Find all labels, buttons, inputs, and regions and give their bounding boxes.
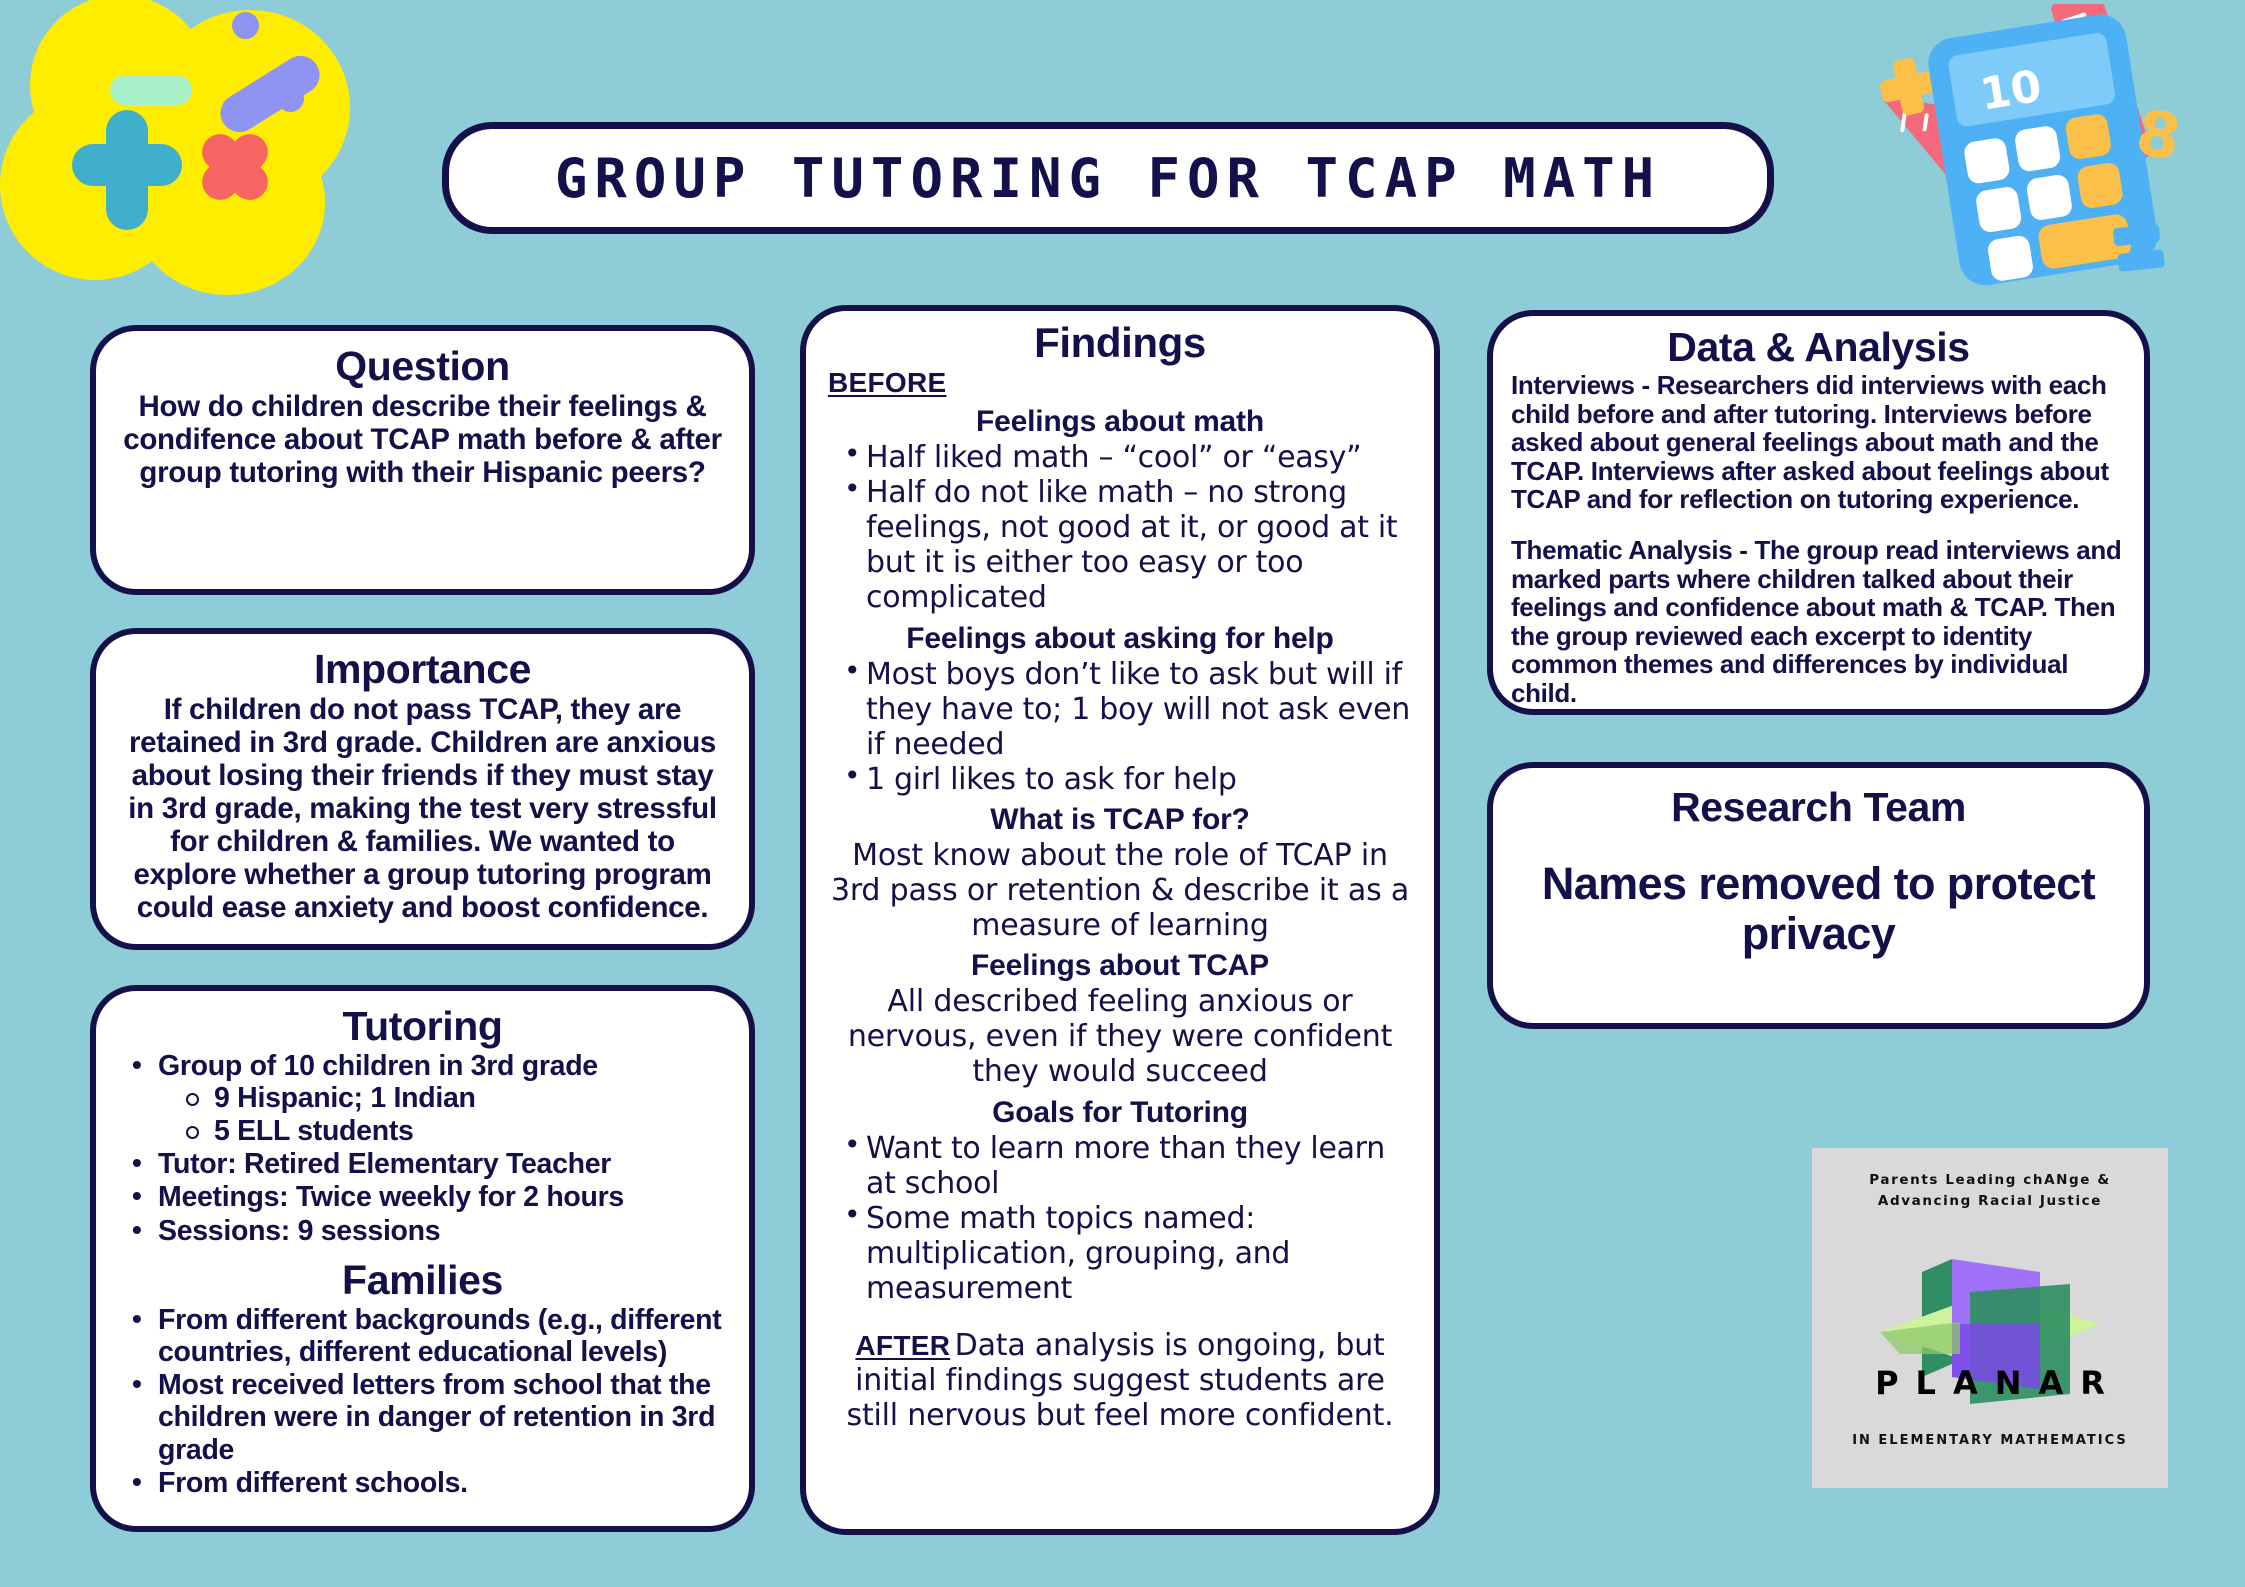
findings-bullet-item: Most boys don’t like to ask but will if … [866, 657, 1412, 762]
importance-card: Importance If children do not pass TCAP,… [90, 628, 755, 950]
tutoring-item-lead: Meetings: [158, 1181, 288, 1213]
importance-text: If children do not pass TCAP, they are r… [120, 693, 725, 924]
findings-card: Findings BEFORE Feelings about mathHalf … [800, 305, 1440, 1535]
logo-artwork: PLANAR [1840, 1214, 2140, 1429]
plus-icon [72, 110, 182, 220]
research-team-card: Research Team Names removed to protect p… [1487, 762, 2150, 1029]
findings-section-heading: Goals for Tutoring [828, 1096, 1412, 1130]
data-analysis-card: Data & Analysis Interviews - Researchers… [1487, 310, 2150, 715]
findings-paragraph: Most know about the role of TCAP in 3rd … [828, 838, 1412, 943]
families-list-item: From different schools. [154, 1467, 725, 1499]
findings-bullet-item: Half do not like math – no strong feelin… [866, 475, 1412, 615]
slash-dot-top-icon [232, 12, 259, 39]
math-symbols-blob-decoration [0, 0, 420, 290]
slash-dot-bottom-icon [277, 85, 304, 112]
logo-tagline-line1: Parents Leading chANge & [1869, 1172, 2110, 1188]
svg-text:8: 8 [2131, 95, 2186, 174]
data-analysis-block: Interviews - Researchers did interviews … [1511, 371, 2126, 514]
question-heading: Question [122, 345, 723, 388]
after-label: AFTER [855, 1330, 950, 1361]
findings-paragraph: All described feeling anxious or nervous… [828, 984, 1412, 1089]
findings-bullet-item: Some math topics named: multiplication, … [866, 1201, 1412, 1306]
data-analysis-block-lead: Interviews [1511, 370, 1635, 400]
findings-bullet-list: Half liked math – “cool” or “easy”Half d… [828, 440, 1412, 615]
families-list-item: Most received letters from school that t… [154, 1369, 725, 1466]
findings-section-heading: Feelings about asking for help [828, 622, 1412, 656]
findings-section: Feelings about asking for helpMost boys … [828, 622, 1412, 797]
research-team-message: Names removed to protect privacy [1517, 859, 2120, 960]
data-analysis-blocks: Interviews - Researchers did interviews … [1511, 371, 2126, 708]
times-icon [200, 135, 270, 205]
tutoring-list-item: Tutor: Retired Elementary Teacher [154, 1148, 725, 1180]
findings-section-heading: What is TCAP for? [828, 803, 1412, 837]
families-list-item: From different backgrounds (e.g., differ… [154, 1304, 725, 1368]
tutoring-list-item: Meetings: Twice weekly for 2 hours [154, 1181, 725, 1213]
question-text: How do children describe their feelings … [122, 390, 723, 489]
tutoring-sublist-item: 9 Hispanic; 1 Indian [184, 1082, 725, 1114]
findings-bullet-item: 1 girl likes to ask for help [866, 762, 1412, 797]
tutoring-families-card: Tutoring Group of 10 children in 3rd gra… [90, 985, 755, 1532]
tutoring-item-lead: Group [158, 1050, 242, 1082]
data-analysis-heading: Data & Analysis [1511, 326, 2126, 369]
planar-logo: Parents Leading chANge & Advancing Racia… [1812, 1148, 2168, 1488]
logo-footer: IN ELEMENTARY MATHEMATICS [1852, 1433, 2128, 1448]
findings-bullet-item: Half liked math – “cool” or “easy” [866, 440, 1412, 475]
tutoring-sublist: 9 Hispanic; 1 Indian5 ELL students [184, 1082, 725, 1147]
findings-bullet-list: Want to learn more than they learn at sc… [828, 1131, 1412, 1306]
findings-section-heading: Feelings about TCAP [828, 949, 1412, 983]
tutoring-sublist-item: 5 ELL students [184, 1115, 725, 1147]
logo-tagline-line2: Advancing Racial Justice [1878, 1193, 2102, 1209]
data-analysis-block-lead: Thematic Analysis [1511, 535, 1732, 565]
before-label: BEFORE [828, 367, 1412, 399]
findings-bullet-item: Want to learn more than they learn at sc… [866, 1131, 1412, 1201]
tutoring-list-item: Group of 10 children in 3rd grade9 Hispa… [154, 1050, 725, 1147]
logo-tagline: Parents Leading chANge & Advancing Racia… [1869, 1170, 2110, 1212]
tutoring-heading: Tutoring [120, 1005, 725, 1048]
findings-bullet-list: Most boys don’t like to ask but will if … [828, 657, 1412, 797]
tutoring-list: Group of 10 children in 3rd grade9 Hispa… [120, 1050, 725, 1247]
data-analysis-block: Thematic Analysis - The group read inter… [1511, 536, 2126, 708]
findings-section: What is TCAP for?Most know about the rol… [828, 803, 1412, 943]
families-heading: Families [120, 1259, 725, 1302]
page-title: GROUP TUTORING FOR TCAP MATH [555, 147, 1661, 210]
importance-heading: Importance [120, 648, 725, 691]
question-card: Question How do children describe their … [90, 325, 755, 595]
findings-section: Feelings about mathHalf liked math – “co… [828, 405, 1412, 615]
poster-canvas: 10 8 GROUP TUTORING FOR TCAP MATH Qu [0, 0, 2245, 1587]
families-list: From different backgrounds (e.g., differ… [120, 1304, 725, 1499]
logo-wordmark: PLANAR [1840, 1364, 2140, 1402]
research-team-heading: Research Team [1517, 786, 2120, 829]
svg-text:10: 10 [1977, 61, 2045, 121]
findings-heading: Findings [828, 321, 1412, 365]
minus-icon [110, 75, 192, 105]
findings-section-heading: Feelings about math [828, 405, 1412, 439]
findings-section: Goals for TutoringWant to learn more tha… [828, 1096, 1412, 1306]
tutoring-list-item: Sessions: 9 sessions [154, 1215, 725, 1247]
calculator-icon: 10 8 [1837, 4, 2237, 294]
tutoring-item-lead: Sessions: [158, 1215, 290, 1247]
tutoring-item-lead: Tutor: [158, 1148, 236, 1180]
poster-title-card: GROUP TUTORING FOR TCAP MATH [442, 122, 1774, 234]
calculator-decoration: 10 8 [1837, 4, 2237, 294]
findings-sections: Feelings about mathHalf liked math – “co… [828, 405, 1412, 1306]
findings-section: Feelings about TCAPAll described feeling… [828, 949, 1412, 1089]
after-block: AFTER Data analysis is ongoing, but init… [828, 1328, 1412, 1433]
